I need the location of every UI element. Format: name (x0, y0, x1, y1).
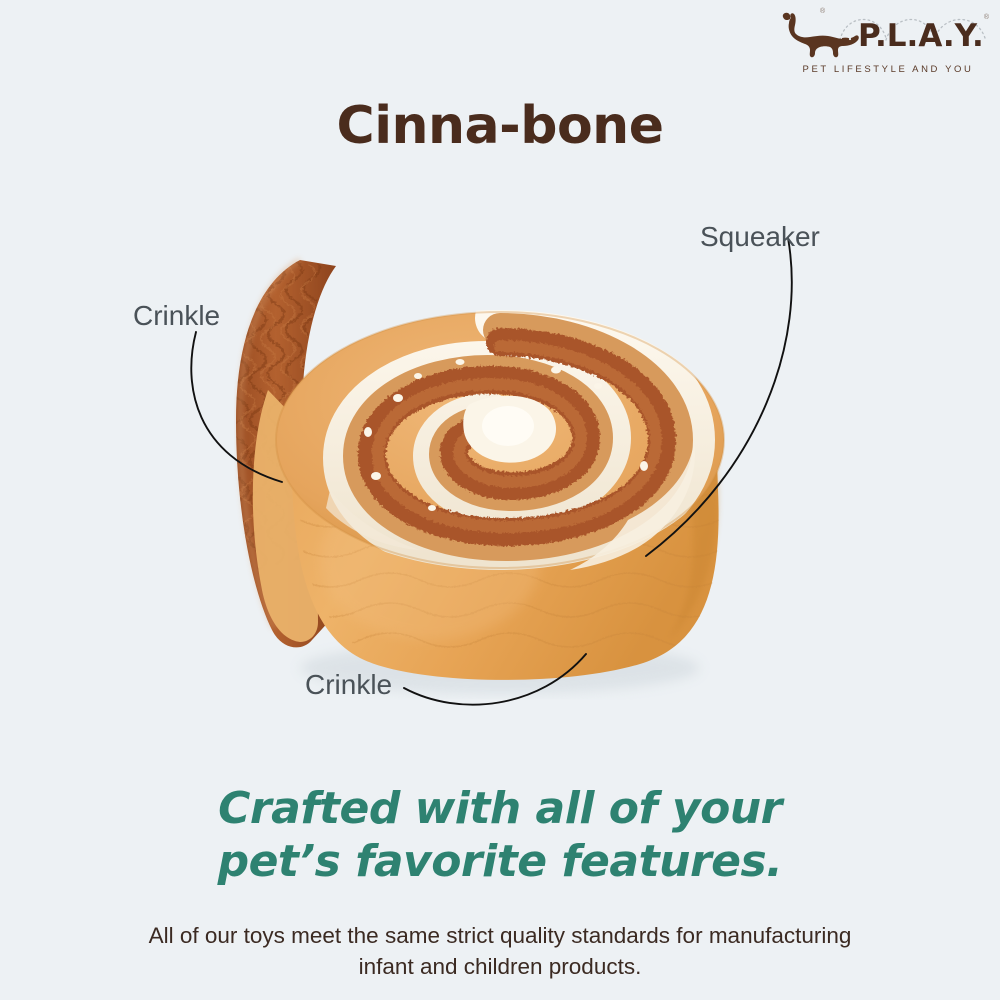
callout-crinkle-top-label: Crinkle (133, 300, 220, 332)
tagline-headline: Crafted with all of your pet’s favorite … (0, 782, 1000, 888)
page-title: Cinna-bone (0, 96, 1000, 156)
brand-wordmark: P.L.A.Y. (858, 16, 984, 56)
product-image (0, 190, 1000, 750)
callout-squeaker-label: Squeaker (700, 221, 820, 253)
footnote: All of our toys meet the same strict qua… (60, 920, 940, 982)
product-top-spiral (276, 312, 724, 570)
tagline-line-1: Crafted with all of your (0, 782, 1000, 835)
dog-silhouette-icon (782, 12, 860, 58)
footnote-line-1: All of our toys meet the same strict qua… (60, 920, 940, 951)
footnote-line-2: infant and children products. (60, 951, 940, 982)
brand-logo: ® ® P.L.A.Y. PET LIFESTYLE AND YOU (780, 6, 990, 84)
brand-logo-row: ® ® P.L.A.Y. (780, 6, 990, 62)
tagline-line-2: pet’s favorite features. (0, 835, 1000, 888)
callout-crinkle-bottom-label: Crinkle (305, 669, 392, 701)
brand-tagline: PET LIFESTYLE AND YOU (788, 64, 988, 75)
